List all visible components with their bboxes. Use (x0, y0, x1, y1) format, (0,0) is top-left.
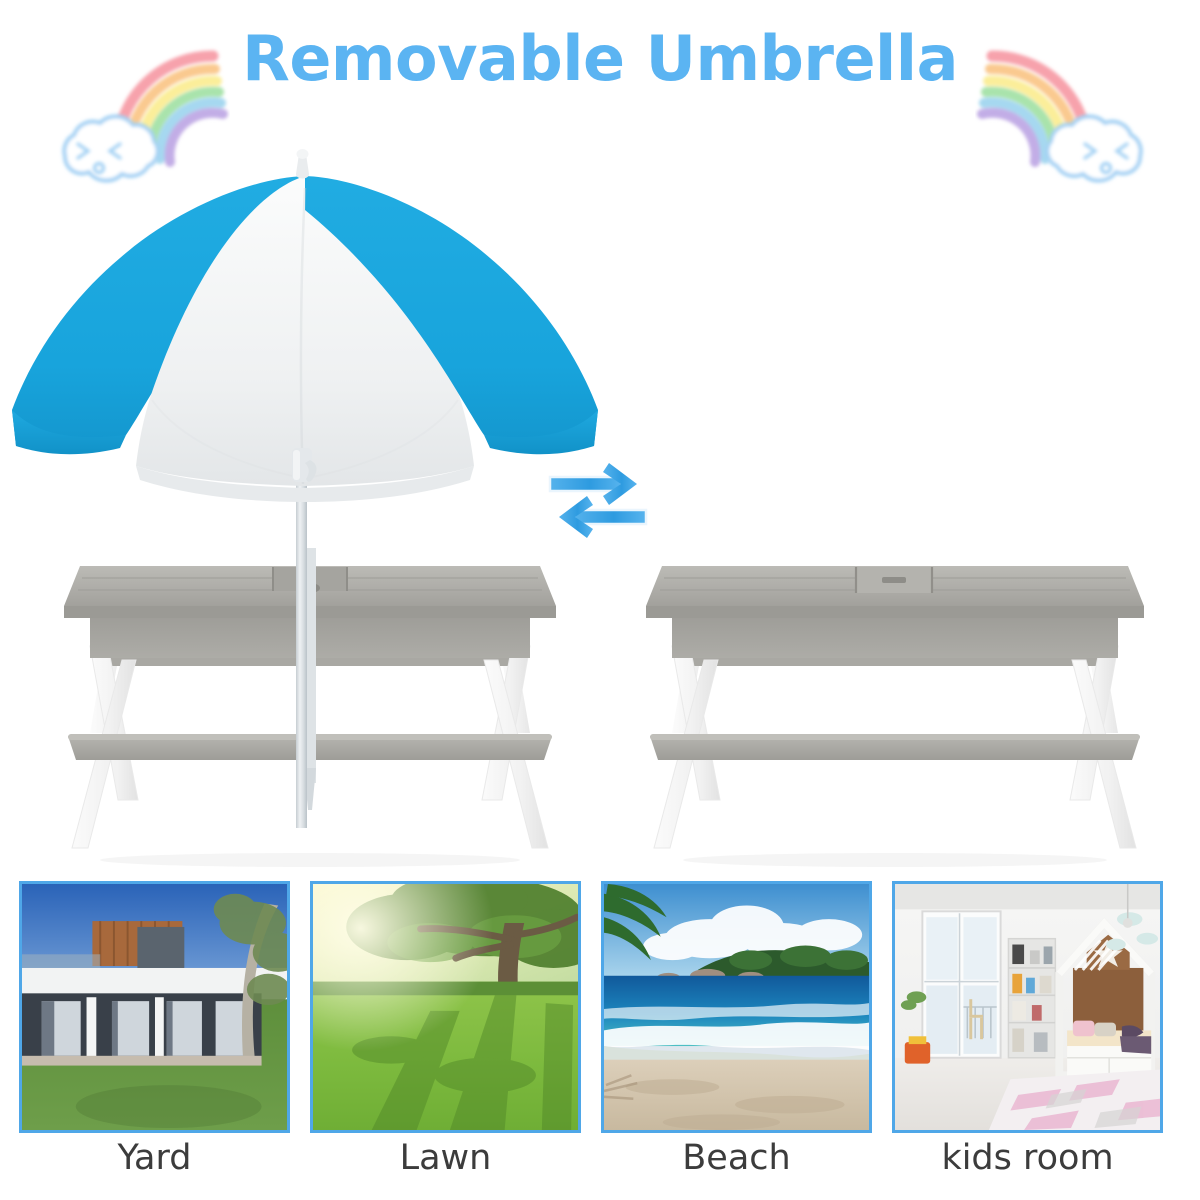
usage-scenes-strip: Yard (19, 881, 1181, 1181)
scene-card-lawn[interactable]: Lawn (310, 881, 581, 1181)
arrow-right-icon (550, 463, 637, 505)
scene-card-yard[interactable]: Yard (19, 881, 290, 1181)
scene-image-beach (601, 881, 872, 1133)
product-picnic-table-with-cap (640, 548, 1150, 868)
scene-label-beach: Beach (682, 1140, 790, 1177)
umbrella-hole-cap (856, 567, 932, 593)
scene-card-kids-room[interactable]: kids room (892, 881, 1163, 1181)
page-title: Removable Umbrella (0, 28, 1200, 90)
scene-image-lawn (310, 881, 581, 1133)
scene-label-yard: Yard (118, 1140, 192, 1177)
swap-direction-arrows (545, 458, 665, 548)
scene-card-beach[interactable]: Beach (601, 881, 872, 1181)
scene-label-lawn: Lawn (400, 1140, 492, 1177)
beach-umbrella-icon (0, 148, 620, 828)
scene-image-yard (19, 881, 290, 1133)
arrow-left-icon (559, 496, 646, 538)
scene-label-kids-room: kids room (941, 1140, 1113, 1177)
scene-image-kids-room (892, 881, 1163, 1133)
